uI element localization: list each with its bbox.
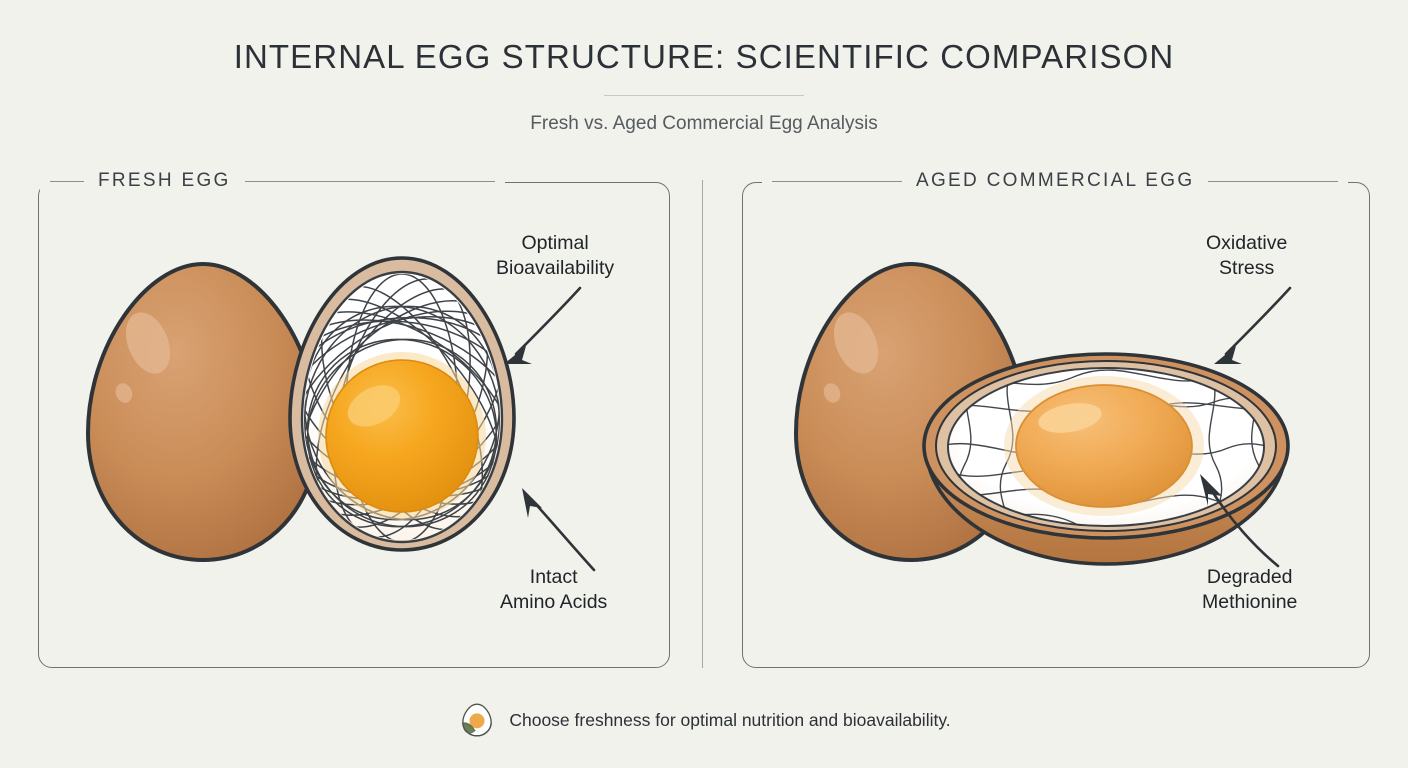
egg-leaf-icon — [457, 700, 497, 740]
callout-line-1: Intact — [500, 565, 607, 590]
callout-line-1: Degraded — [1202, 565, 1297, 590]
callout-arrow-intact — [498, 478, 628, 578]
callout-line-1: Optimal — [496, 231, 614, 256]
infographic-canvas: INTERNAL EGG STRUCTURE: SCIENTIFIC COMPA… — [0, 0, 1408, 768]
callout-degraded-methionine: Degraded Methionine — [1202, 565, 1297, 615]
legend-dash-right — [1208, 181, 1338, 182]
yolk-aged — [1016, 385, 1192, 507]
callout-arrow-degraded — [1174, 462, 1304, 572]
legend-dash-left — [50, 181, 84, 182]
callout-line-1: Oxidative — [1206, 231, 1287, 256]
callout-line-2: Amino Acids — [500, 590, 607, 615]
callout-arrow-oxidative — [1198, 280, 1338, 380]
panel-legend-aged: AGED COMMERCIAL EGG — [762, 170, 1348, 192]
callout-oxidative-stress: Oxidative Stress — [1206, 231, 1287, 281]
yolk-fresh — [326, 360, 478, 512]
legend-dash-left — [772, 181, 902, 182]
callout-arrow-optimal — [488, 280, 628, 380]
footer: Choose freshness for optimal nutrition a… — [0, 700, 1408, 740]
callout-line-2: Bioavailability — [496, 256, 614, 281]
title-divider — [604, 95, 804, 96]
legend-dash-right — [245, 181, 495, 182]
panel-legend-label-aged: AGED COMMERCIAL EGG — [916, 170, 1194, 192]
callout-intact-amino-acids: Intact Amino Acids — [500, 565, 607, 615]
footer-text: Choose freshness for optimal nutrition a… — [509, 710, 950, 731]
panel-legend-label-fresh: FRESH EGG — [98, 170, 231, 192]
panel-legend-fresh: FRESH EGG — [40, 170, 505, 192]
panel-divider — [702, 180, 703, 668]
callout-line-2: Methionine — [1202, 590, 1297, 615]
page-title: INTERNAL EGG STRUCTURE: SCIENTIFIC COMPA… — [0, 38, 1408, 76]
callout-optimal-bioavailability: Optimal Bioavailability — [496, 231, 614, 281]
page-subtitle: Fresh vs. Aged Commercial Egg Analysis — [0, 113, 1408, 135]
callout-line-2: Stress — [1206, 256, 1287, 281]
